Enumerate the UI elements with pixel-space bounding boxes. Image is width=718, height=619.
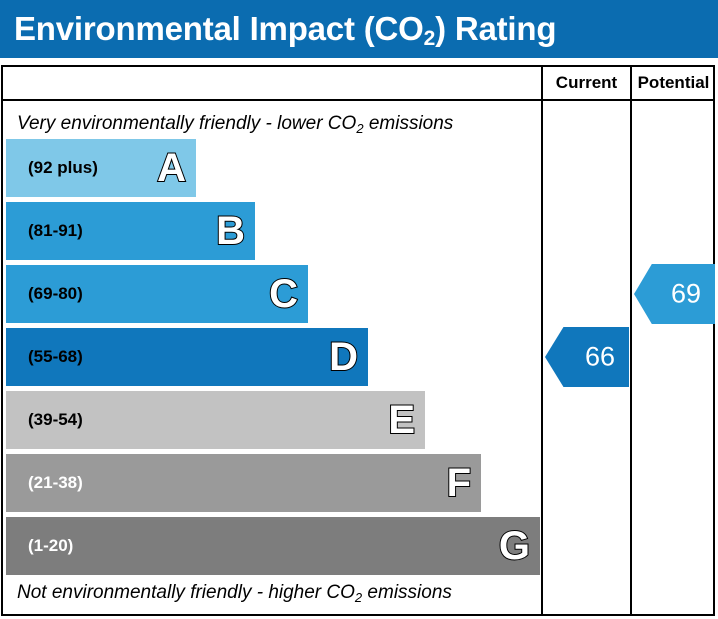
band-a: (92 plus) A	[6, 139, 196, 197]
band-d: (55-68) D	[6, 328, 368, 386]
column-header-current: Current	[543, 67, 630, 99]
column-divider-current-potential	[630, 67, 632, 614]
band-g: (1-20) G	[6, 517, 540, 575]
band-d-letter: D	[329, 337, 358, 377]
band-f: (21-38) F	[6, 454, 481, 512]
rating-bands: (92 plus) A (81-91) B (69-80) C (55-68) …	[3, 139, 541, 580]
epc-environmental-impact-chart: Environmental Impact (CO2) Rating Curren…	[0, 0, 718, 619]
rating-table: Current Potential Very environmentally f…	[1, 65, 715, 616]
potential-rating-arrow: 69	[634, 264, 715, 324]
chart-area: Very environmentally friendly - lower CO…	[3, 99, 541, 614]
band-c-letter: C	[269, 274, 298, 314]
band-e-letter: E	[388, 400, 415, 440]
caption-bottom-subscript: 2	[355, 590, 362, 605]
band-f-letter: F	[447, 463, 471, 503]
band-c-range: (69-80)	[28, 284, 83, 304]
title-banner: Environmental Impact (CO2) Rating	[0, 0, 718, 58]
band-g-letter: G	[499, 526, 530, 566]
caption-bottom: Not environmentally friendly - higher CO…	[17, 582, 452, 604]
title-subscript: 2	[424, 27, 435, 50]
band-c: (69-80) C	[6, 265, 308, 323]
potential-rating-value: 69	[671, 279, 701, 310]
band-e: (39-54) E	[6, 391, 425, 449]
band-d-range: (55-68)	[28, 347, 83, 367]
caption-top-subscript: 2	[356, 121, 363, 136]
caption-top: Very environmentally friendly - lower CO…	[17, 113, 453, 135]
band-a-range: (92 plus)	[28, 158, 98, 178]
band-b: (81-91) B	[6, 202, 255, 260]
band-f-range: (21-38)	[28, 473, 83, 493]
page-title: Environmental Impact (CO2) Rating	[14, 10, 556, 48]
current-rating-arrow: 66	[545, 327, 629, 387]
band-e-range: (39-54)	[28, 410, 83, 430]
band-g-range: (1-20)	[28, 536, 73, 556]
column-header-potential: Potential	[632, 67, 715, 99]
band-a-letter: A	[157, 148, 186, 188]
band-b-letter: B	[216, 211, 245, 251]
current-rating-value: 66	[585, 342, 615, 373]
band-b-range: (81-91)	[28, 221, 83, 241]
column-divider-chart-current	[541, 67, 543, 614]
